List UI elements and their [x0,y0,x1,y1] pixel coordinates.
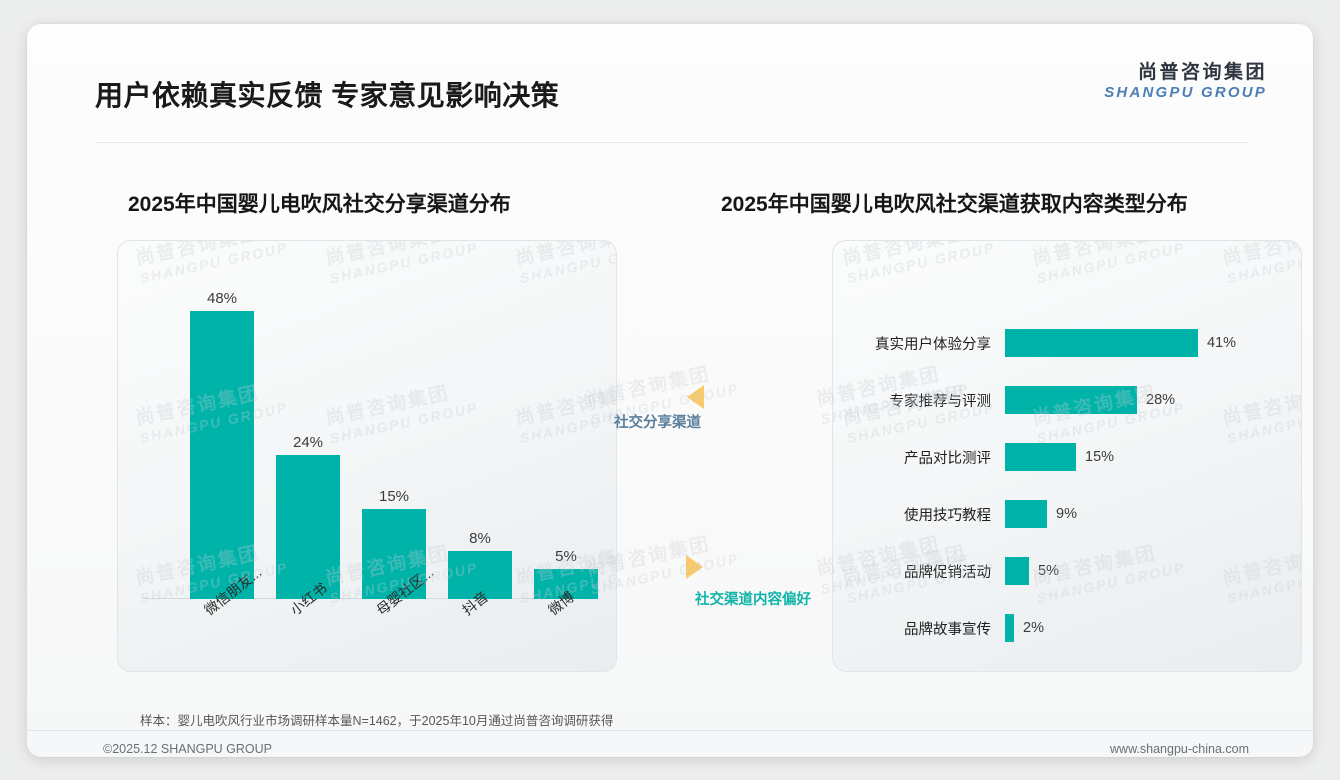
bar-row[interactable]: 真实用户体验分享41% [833,323,1302,363]
category-label: 真实用户体验分享 [833,333,1005,354]
bar[interactable] [1005,386,1137,414]
bar-value-label: 8% [434,530,526,547]
bar-row[interactable]: 品牌故事宣传2% [833,608,1302,648]
category-label: 品牌故事宣传 [833,618,1005,639]
bar-value-label: 15% [1085,449,1114,465]
bar-column[interactable]: 8%抖音 [448,550,512,599]
bar-value-label: 24% [262,434,354,451]
triangle-right-icon [686,555,703,579]
header-divider [95,142,1247,143]
bar[interactable] [190,311,254,599]
category-label: 品牌促销活动 [833,561,1005,582]
chart-panel-left: 48%微信朋友...24%小红书15%母婴社区...8%抖音5%微博 尚普咨询集… [117,240,617,672]
bar-value-label: 9% [1056,506,1077,522]
website-url: www.shangpu-china.com [1110,742,1249,756]
sample-note: 样本：婴儿电吹风行业市场调研样本量N=1462，于2025年10月通过尚普咨询调… [140,710,613,729]
bar[interactable] [1005,329,1198,357]
chart-title-right: 2025年中国婴儿电吹风社交渠道获取内容类型分布 [721,188,1188,218]
bar-column[interactable]: 48%微信朋友... [190,310,254,599]
bar-value-label: 41% [1207,335,1236,351]
bar-row[interactable]: 使用技巧教程9% [833,494,1302,534]
logo-chinese-text: 尚普咨询集团 [1104,63,1267,83]
slide-header: 用户依赖真实反馈 专家意见影响决策 尚普咨询集团 SHANGPU GROUP [27,24,1313,120]
bar-value-label: 48% [176,290,268,307]
horizontal-bar-chart: 真实用户体验分享41%专家推荐与评测28%产品对比测评15%使用技巧教程9%品牌… [833,241,1302,672]
category-label: 专家推荐与评测 [833,390,1005,411]
bar[interactable] [1005,557,1029,585]
bar-row[interactable]: 产品对比测评15% [833,437,1302,477]
bar[interactable] [1005,500,1047,528]
bar-value-label: 5% [520,548,612,565]
page-title: 用户依赖真实反馈 专家意见影响决策 [95,74,559,114]
bar-column[interactable]: 24%小红书 [276,454,340,599]
bar[interactable] [1005,614,1014,642]
bar-row[interactable]: 品牌促销活动5% [833,551,1302,591]
annotation-label: 社交分享渠道 [614,411,701,432]
footer-divider [27,730,1313,731]
triangle-left-icon [687,385,704,409]
brand-logo: 尚普咨询集团 SHANGPU GROUP [1104,63,1267,101]
bar[interactable] [276,455,340,599]
bar-column[interactable]: 5%微博 [534,568,598,599]
bar-column[interactable]: 15%母婴社区... [362,508,426,599]
copyright-text: ©2025.12 SHANGPU GROUP [103,742,272,756]
annotation-label: 社交渠道内容偏好 [695,588,811,609]
slide-card: 用户依赖真实反馈 专家意见影响决策 尚普咨询集团 SHANGPU GROUP 2… [27,24,1313,757]
bar-value-label: 15% [348,488,440,505]
bar[interactable] [1005,443,1076,471]
bar-value-label: 28% [1146,392,1175,408]
chart-title-left: 2025年中国婴儿电吹风社交分享渠道分布 [128,188,511,218]
vertical-bar-chart: 48%微信朋友...24%小红书15%母婴社区...8%抖音5%微博 [142,259,594,599]
chart-panel-right: 真实用户体验分享41%专家推荐与评测28%产品对比测评15%使用技巧教程9%品牌… [832,240,1302,672]
category-label: 使用技巧教程 [833,504,1005,525]
bar-row[interactable]: 专家推荐与评测28% [833,380,1302,420]
category-label: 产品对比测评 [833,447,1005,468]
bar-value-label: 2% [1023,620,1044,636]
logo-english-text: SHANGPU GROUP [1104,85,1267,101]
bar-value-label: 5% [1038,563,1059,579]
